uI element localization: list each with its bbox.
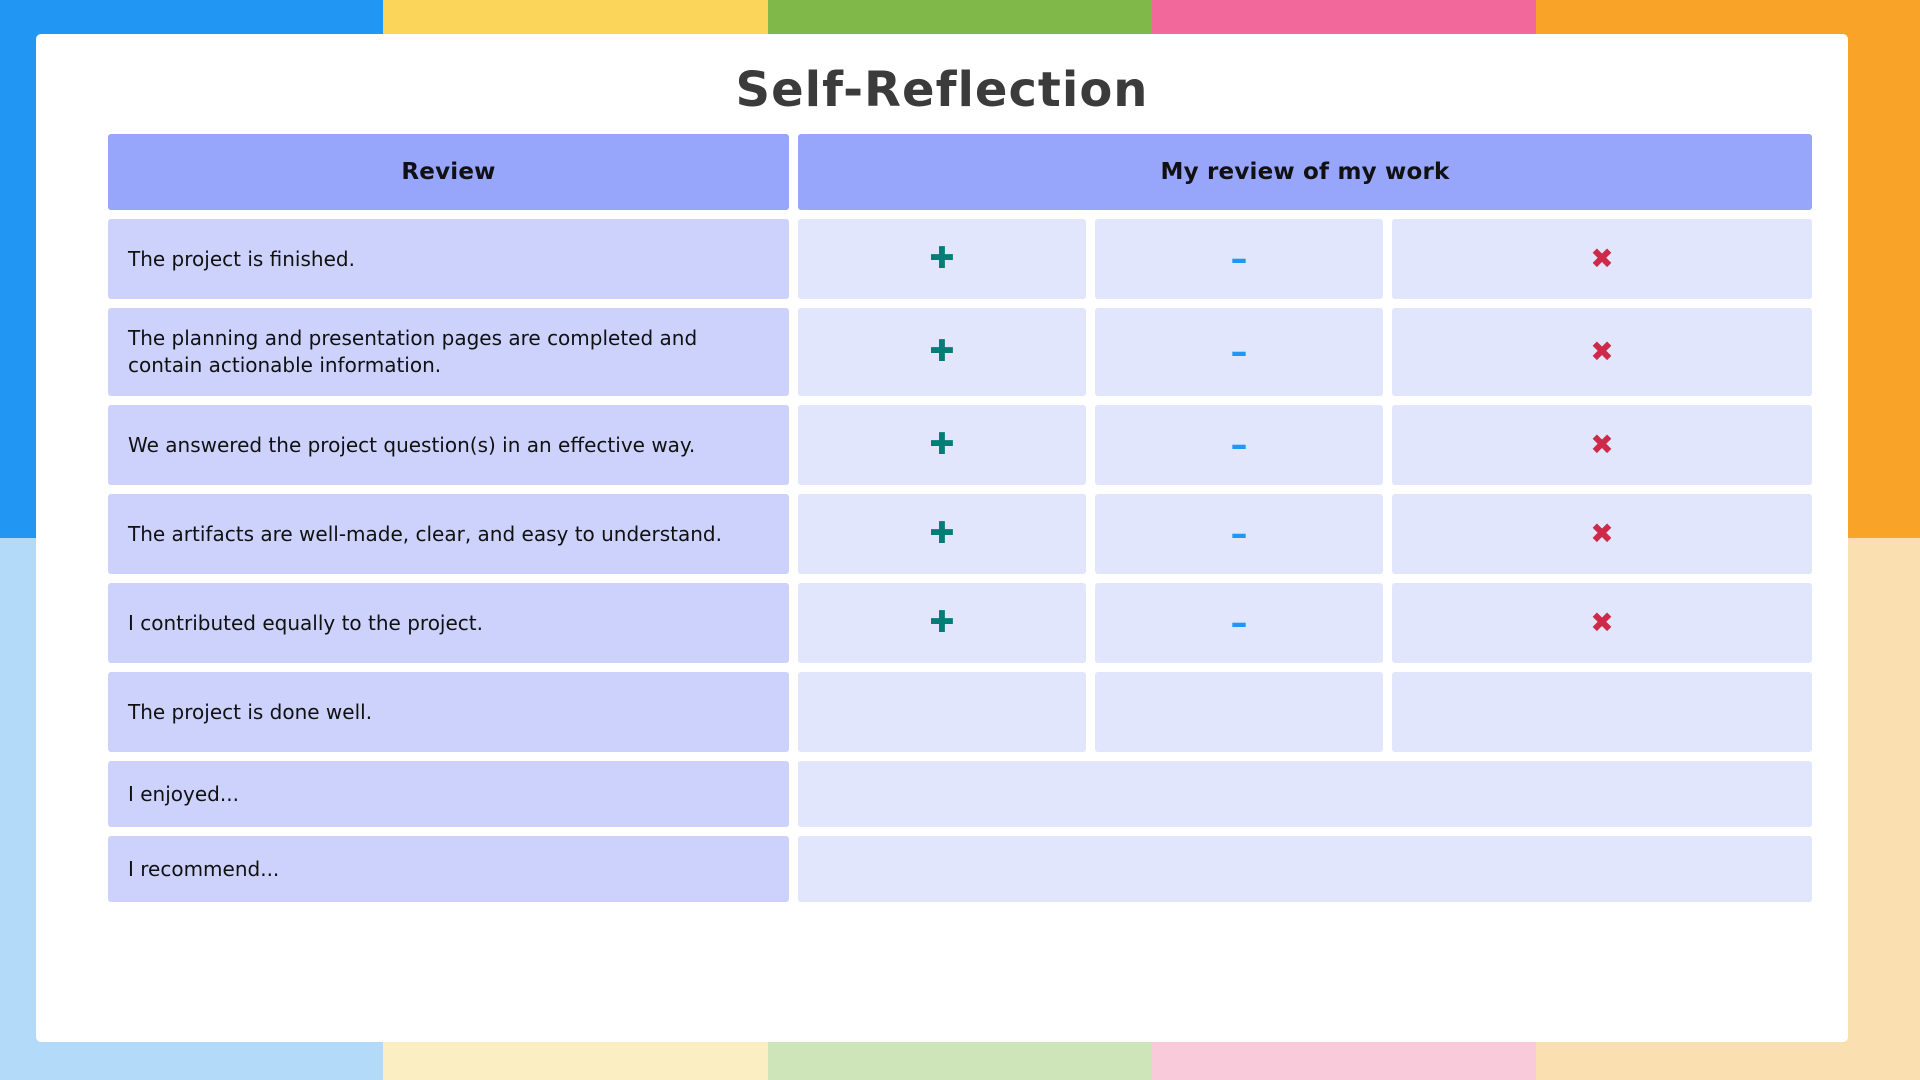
response-cell-minus[interactable]: – bbox=[1095, 219, 1383, 299]
statement-cell: The project is done well. bbox=[108, 672, 789, 752]
response-cell-plus[interactable]: ✚ bbox=[798, 219, 1086, 299]
minus-icon: – bbox=[1231, 606, 1248, 640]
table-row: The planning and presentation pages are … bbox=[108, 308, 1812, 396]
response-cell-cross[interactable]: ✖ bbox=[1392, 308, 1812, 396]
response-cell-cross[interactable] bbox=[1392, 672, 1812, 752]
cross-icon: ✖ bbox=[1590, 431, 1613, 459]
column-header-review: Review bbox=[108, 134, 789, 210]
cross-icon: ✖ bbox=[1590, 338, 1613, 366]
page-title: Self-Reflection bbox=[36, 34, 1848, 120]
response-cell-cross[interactable]: ✖ bbox=[1392, 583, 1812, 663]
cross-icon: ✖ bbox=[1590, 245, 1613, 273]
minus-icon: – bbox=[1231, 242, 1248, 276]
plus-icon: ✚ bbox=[929, 244, 954, 274]
self-reflection-table: Review My review of my work The project … bbox=[108, 134, 1812, 911]
column-header-my-review: My review of my work bbox=[798, 134, 1812, 210]
statement-cell: I contributed equally to the project. bbox=[108, 583, 789, 663]
table-row: I recommend... bbox=[108, 836, 1812, 902]
plus-icon: ✚ bbox=[929, 519, 954, 549]
response-cell-plus[interactable] bbox=[798, 672, 1086, 752]
statement-cell: I enjoyed... bbox=[108, 761, 789, 827]
response-cell-open[interactable] bbox=[798, 836, 1812, 902]
minus-icon: – bbox=[1231, 335, 1248, 369]
statement-cell: We answered the project question(s) in a… bbox=[108, 405, 789, 485]
cross-icon: ✖ bbox=[1590, 609, 1613, 637]
plus-icon: ✚ bbox=[929, 337, 954, 367]
response-cell-plus[interactable]: ✚ bbox=[798, 308, 1086, 396]
plus-icon: ✚ bbox=[929, 608, 954, 638]
table-row: The project is done well. bbox=[108, 672, 1812, 752]
response-cell-cross[interactable]: ✖ bbox=[1392, 219, 1812, 299]
response-cell-plus[interactable]: ✚ bbox=[798, 583, 1086, 663]
response-cell-minus[interactable]: – bbox=[1095, 405, 1383, 485]
response-cell-minus[interactable] bbox=[1095, 672, 1383, 752]
table-row: The project is finished.✚–✖ bbox=[108, 219, 1812, 299]
table-body: The project is finished.✚–✖The planning … bbox=[108, 219, 1812, 902]
table-header-row: Review My review of my work bbox=[108, 134, 1812, 210]
cross-icon: ✖ bbox=[1590, 520, 1613, 548]
table-row: I enjoyed... bbox=[108, 761, 1812, 827]
statement-cell: The artifacts are well-made, clear, and … bbox=[108, 494, 789, 574]
table-row: I contributed equally to the project.✚–✖ bbox=[108, 583, 1812, 663]
statement-cell: The planning and presentation pages are … bbox=[108, 308, 789, 396]
worksheet-card: Self-Reflection Review My review of my w… bbox=[36, 34, 1848, 1042]
table-row: The artifacts are well-made, clear, and … bbox=[108, 494, 1812, 574]
statement-cell: I recommend... bbox=[108, 836, 789, 902]
response-cell-minus[interactable]: – bbox=[1095, 308, 1383, 396]
table-row: We answered the project question(s) in a… bbox=[108, 405, 1812, 485]
response-cell-minus[interactable]: – bbox=[1095, 583, 1383, 663]
response-cell-cross[interactable]: ✖ bbox=[1392, 494, 1812, 574]
response-cell-plus[interactable]: ✚ bbox=[798, 405, 1086, 485]
statement-cell: The project is finished. bbox=[108, 219, 789, 299]
minus-icon: – bbox=[1231, 428, 1248, 462]
response-cell-open[interactable] bbox=[798, 761, 1812, 827]
response-cell-plus[interactable]: ✚ bbox=[798, 494, 1086, 574]
response-cell-minus[interactable]: – bbox=[1095, 494, 1383, 574]
response-cell-cross[interactable]: ✖ bbox=[1392, 405, 1812, 485]
minus-icon: – bbox=[1231, 517, 1248, 551]
plus-icon: ✚ bbox=[929, 430, 954, 460]
